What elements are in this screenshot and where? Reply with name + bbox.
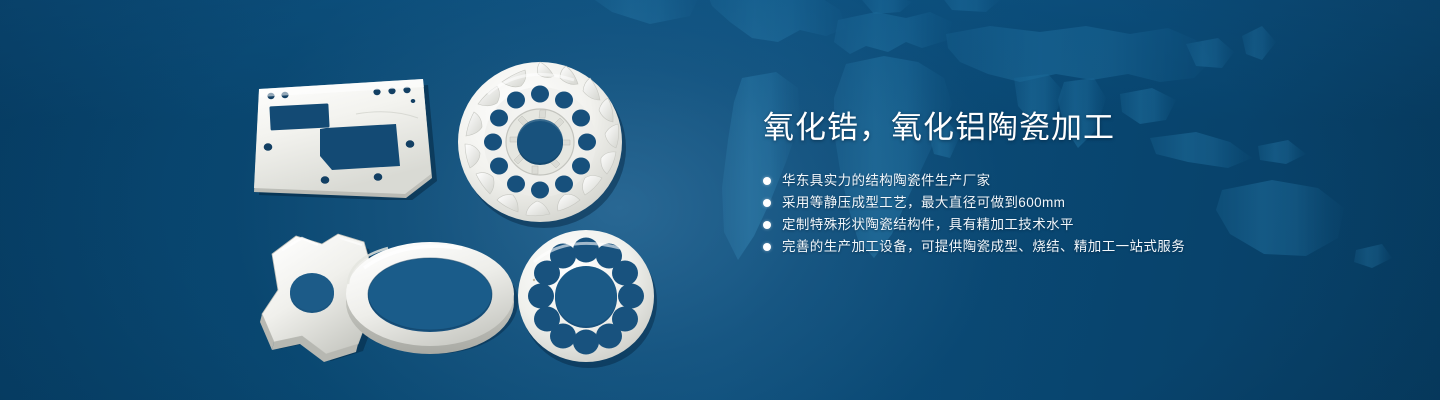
banner-copy: 氧化锆，氧化铝陶瓷加工 华东具实力的结构陶瓷件生产厂家 采用等静压成型工艺，最大… xyxy=(763,108,1383,258)
ceramic-plate-image xyxy=(248,78,440,200)
product-photo-group xyxy=(0,0,720,400)
list-item: 采用等静压成型工艺，最大直径可做到600mm xyxy=(763,192,1383,214)
hero-banner: 氧化锆，氧化铝陶瓷加工 华东具实力的结构陶瓷件生产厂家 采用等静压成型工艺，最大… xyxy=(0,0,1440,400)
feature-text: 定制特殊形状陶瓷结构件，具有精加工技术水平 xyxy=(782,214,1074,236)
ceramic-perforated-disc-image xyxy=(512,228,662,370)
bullet-dot-icon xyxy=(763,221,771,229)
ceramic-ring-image xyxy=(340,232,522,362)
ceramic-impeller-image xyxy=(452,52,632,230)
feature-list: 华东具实力的结构陶瓷件生产厂家 采用等静压成型工艺，最大直径可做到600mm 定… xyxy=(763,170,1383,258)
bullet-dot-icon xyxy=(763,177,771,185)
feature-text: 华东具实力的结构陶瓷件生产厂家 xyxy=(782,170,991,192)
list-item: 华东具实力的结构陶瓷件生产厂家 xyxy=(763,170,1383,192)
bullet-dot-icon xyxy=(763,199,771,207)
list-item: 完善的生产加工设备，可提供陶瓷成型、烧结、精加工一站式服务 xyxy=(763,236,1383,258)
feature-text: 完善的生产加工设备，可提供陶瓷成型、烧结、精加工一站式服务 xyxy=(782,236,1185,258)
list-item: 定制特殊形状陶瓷结构件，具有精加工技术水平 xyxy=(763,214,1383,236)
bullet-dot-icon xyxy=(763,243,771,251)
page-title: 氧化锆，氧化铝陶瓷加工 xyxy=(763,108,1383,148)
feature-text: 采用等静压成型工艺，最大直径可做到600mm xyxy=(782,192,1065,214)
